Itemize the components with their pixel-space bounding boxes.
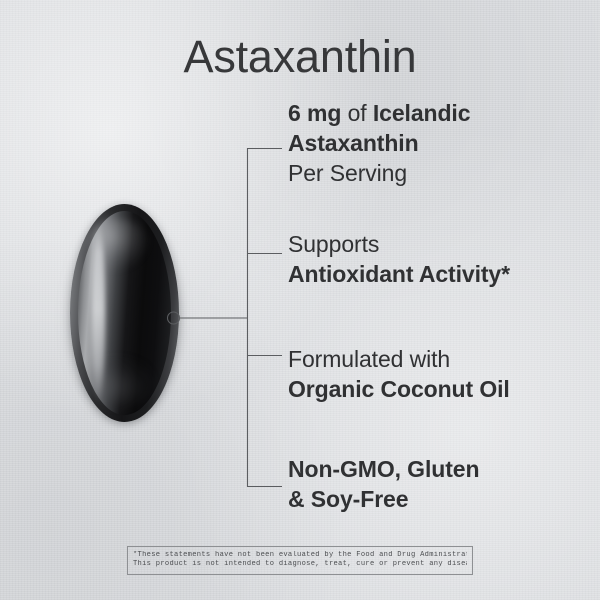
benefit-text-regular: Supports	[288, 231, 379, 257]
benefit-text-bold: Non-GMO, Gluten	[288, 456, 479, 482]
benefit-line: 6 mg of Icelandic	[288, 98, 588, 128]
benefit-text-bold: & Soy-Free	[288, 486, 408, 512]
benefit-item-dosage: 6 mg of IcelandicAstaxanthinPer Serving	[288, 98, 588, 188]
benefit-line: Organic Coconut Oil	[288, 374, 588, 404]
benefit-text-bold: Antioxidant Activity*	[288, 261, 510, 287]
disclaimer-line-1: *These statements have not been evaluate…	[133, 551, 467, 560]
benefit-text-bold: Astaxanthin	[288, 130, 419, 156]
benefit-text-regular: of	[348, 100, 373, 126]
benefit-line: Non-GMO, Gluten	[288, 454, 588, 484]
benefit-item-non-gmo: Non-GMO, Gluten& Soy-Free	[288, 454, 588, 514]
benefit-text-regular: Formulated with	[288, 346, 450, 372]
capsule-connector-dot	[168, 312, 180, 324]
product-infographic: Astaxanthin 6 mg of IcelandicAstaxanthin…	[0, 0, 600, 600]
disclaimer-line-2: This product is not intended to diagnose…	[133, 560, 467, 569]
benefit-line: Per Serving	[288, 158, 588, 188]
benefit-line: Supports	[288, 229, 588, 259]
benefit-item-antioxidant: SupportsAntioxidant Activity*	[288, 229, 588, 289]
benefit-line: & Soy-Free	[288, 484, 588, 514]
benefit-text-bold: Icelandic	[373, 100, 471, 126]
benefit-item-coconut-oil: Formulated withOrganic Coconut Oil	[288, 344, 588, 404]
benefit-line: Astaxanthin	[288, 128, 588, 158]
fda-disclaimer: *These statements have not been evaluate…	[127, 546, 473, 575]
benefit-text-bold: Organic Coconut Oil	[288, 376, 510, 402]
benefit-text-regular: Per Serving	[288, 160, 407, 186]
benefit-text-bold: 6 mg	[288, 100, 348, 126]
benefit-line: Antioxidant Activity*	[288, 259, 588, 289]
benefit-line: Formulated with	[288, 344, 588, 374]
